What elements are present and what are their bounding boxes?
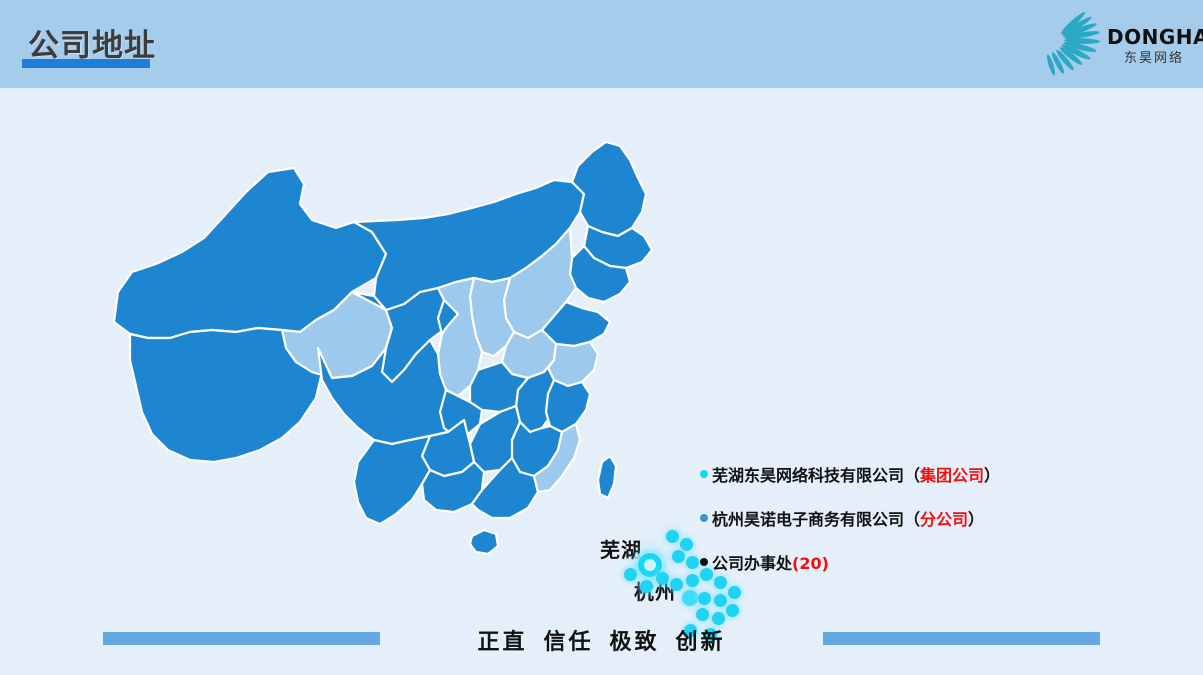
map-marker-office[interactable]	[672, 550, 685, 563]
tagline-word: 创新	[676, 630, 726, 655]
province-yunnan	[354, 436, 430, 524]
legend-label: 芜湖东昊网络科技有限公司（集团公司）	[712, 462, 1000, 486]
legend-label: 杭州昊诺电子商务有限公司（分公司）	[712, 506, 984, 530]
title-underline	[22, 59, 150, 68]
legend-bullet-cyan	[700, 470, 708, 478]
header-band: 公司地址	[0, 0, 1203, 88]
china-map-svg	[86, 132, 686, 602]
footer-tagline: 正直信任极致创新	[0, 624, 1203, 656]
province-zhejiang	[546, 380, 590, 432]
company-logo: DONGHAO 东昊网络	[1015, 5, 1195, 81]
map-marker-office[interactable]	[666, 530, 679, 543]
map-marker-office[interactable]	[640, 580, 653, 593]
map-marker-office[interactable]	[696, 608, 709, 621]
map-marker-office[interactable]	[680, 538, 693, 551]
province-jiangsu	[548, 342, 598, 386]
legend-label: 公司办事处(20)	[712, 550, 829, 574]
legend-highlight: (20)	[792, 554, 829, 573]
map-marker-office[interactable]	[698, 592, 711, 605]
province-hainan	[470, 530, 498, 554]
province-taiwan	[598, 456, 616, 498]
donghao-wing-icon	[1037, 9, 1109, 79]
map-marker-office[interactable]	[714, 576, 727, 589]
tagline-word: 正直	[477, 630, 527, 655]
legend-item-group-company: 芜湖东昊网络科技有限公司（集团公司）	[700, 462, 1030, 486]
map-marker-office[interactable]	[686, 574, 699, 587]
map-marker-hangzhou[interactable]	[682, 590, 698, 606]
tagline-word: 极致	[610, 630, 660, 655]
china-map[interactable]: 芜湖 杭州	[86, 132, 686, 602]
map-marker-office[interactable]	[624, 568, 637, 581]
legend-highlight: 集团公司	[920, 466, 984, 485]
legend-bullet-blue	[700, 514, 708, 522]
logo-name-cn: 东昊网络	[1107, 52, 1199, 65]
logo-name-en: DONGHAO	[1107, 27, 1199, 47]
map-marker-office[interactable]	[728, 586, 741, 599]
province-heilongjiang	[572, 142, 646, 236]
legend-item-offices: 公司办事处(20)	[700, 550, 1030, 574]
legend-highlight: 分公司	[920, 510, 968, 529]
map-marker-office[interactable]	[656, 572, 669, 585]
map-marker-office[interactable]	[726, 604, 739, 617]
logo-wordmark: DONGHAO 东昊网络	[1107, 27, 1199, 65]
map-marker-office[interactable]	[714, 594, 727, 607]
map-marker-office[interactable]	[670, 578, 683, 591]
legend: 芜湖东昊网络科技有限公司（集团公司） 杭州昊诺电子商务有限公司（分公司） 公司办…	[700, 462, 1030, 574]
city-label-wuhu: 芜湖	[600, 534, 642, 563]
legend-bullet-black	[700, 558, 708, 566]
tagline-word: 信任	[543, 630, 593, 655]
legend-item-branch-company: 杭州昊诺电子商务有限公司（分公司）	[700, 506, 1030, 530]
slide-root: 公司地址	[0, 0, 1203, 675]
city-label-hangzhou: 杭州	[634, 576, 676, 605]
map-marker-office[interactable]	[686, 556, 699, 569]
